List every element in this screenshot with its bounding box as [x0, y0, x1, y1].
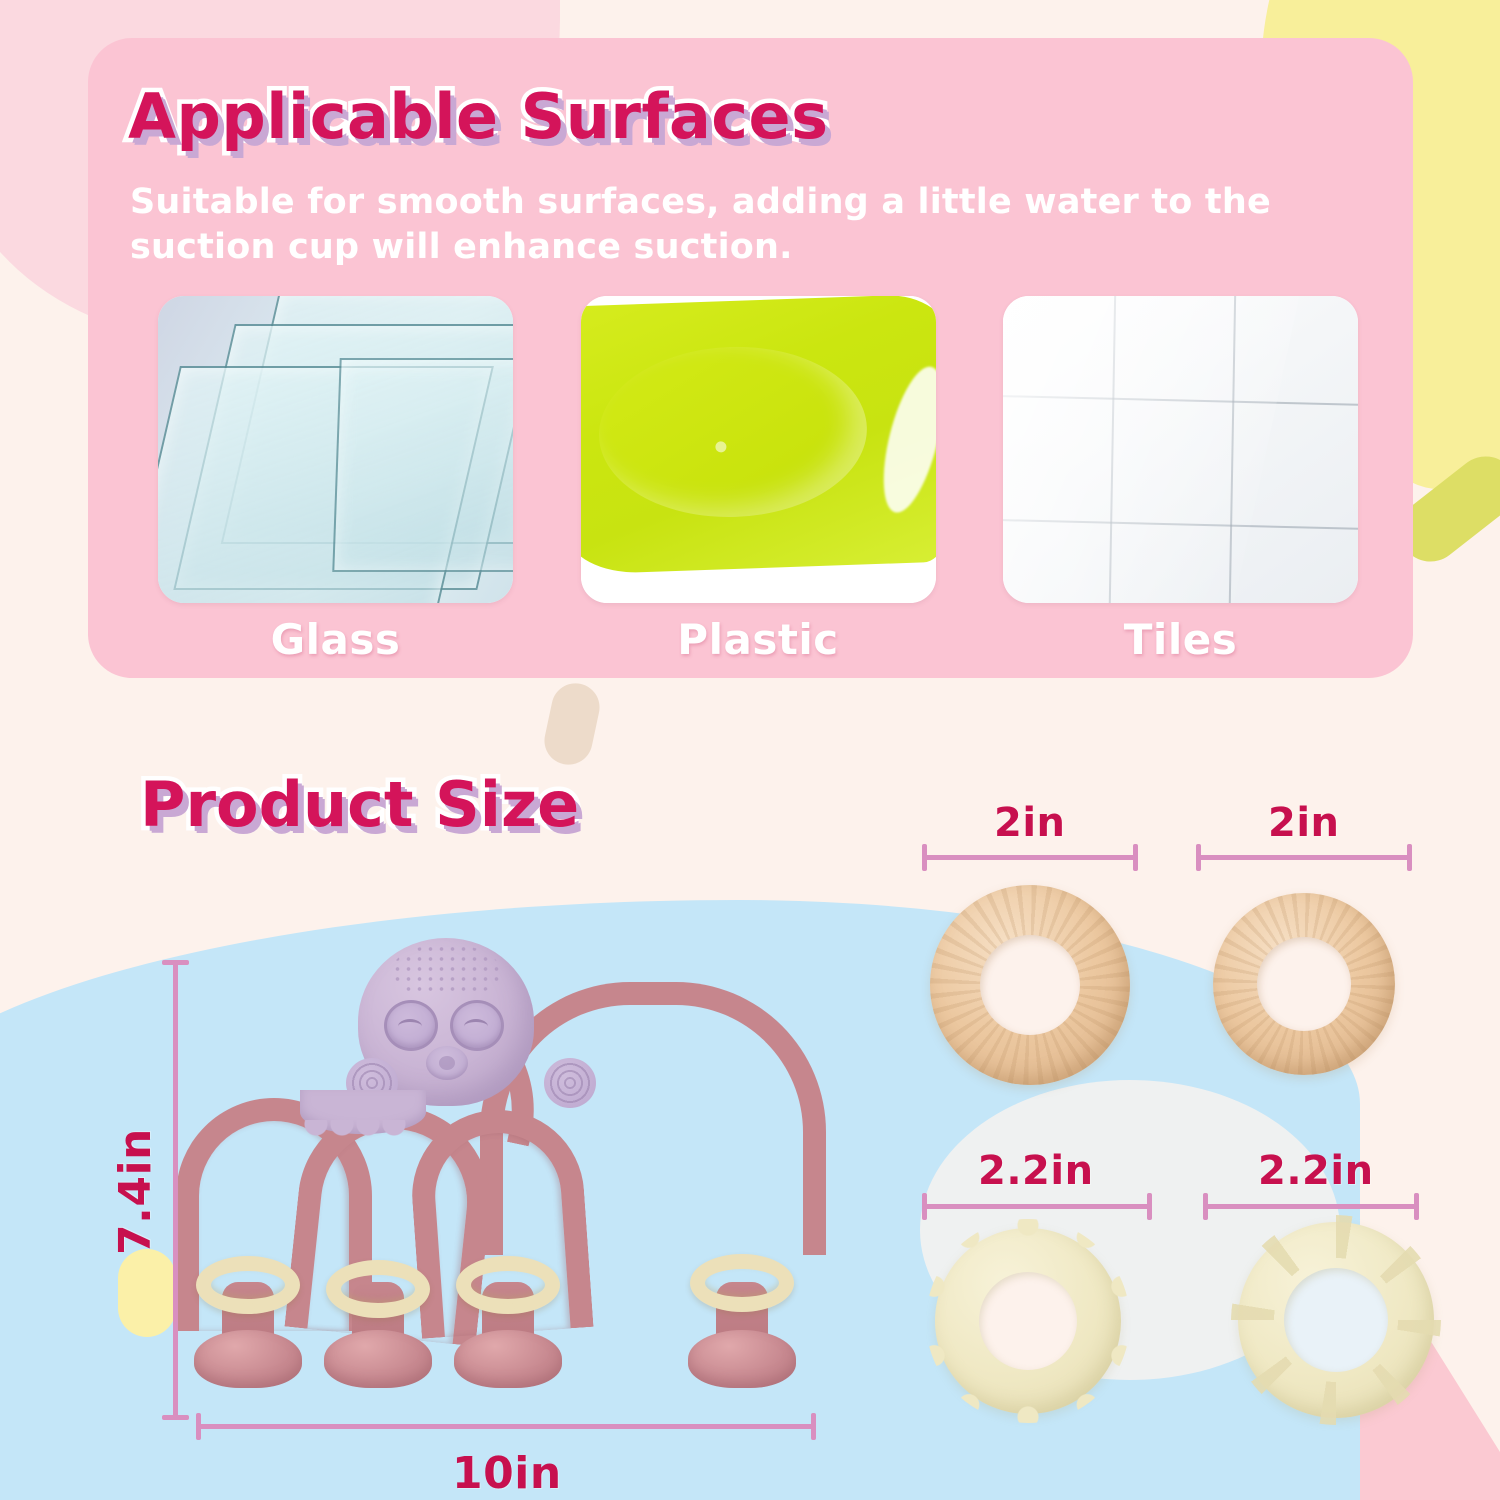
octopus-spiral-right: [544, 1058, 596, 1108]
suction-cup: [454, 1330, 562, 1388]
height-dimension-line: [173, 960, 178, 1420]
ring-dimension-label-silicone-left: 2.2in: [978, 1148, 1094, 1194]
octopus-skirt: [300, 1090, 426, 1134]
octopus-head: [358, 938, 534, 1106]
ring-dimension-line-wood-right: [1196, 855, 1412, 860]
silicone-ring-hole: [1284, 1268, 1388, 1372]
plastic-tray-icon: [581, 296, 936, 575]
surface-card-label-tiles: Tiles: [1003, 615, 1358, 664]
octopus-eyelash: [398, 1019, 422, 1034]
ring-dimension-line-wood-left: [922, 855, 1138, 860]
suction-cup: [194, 1330, 302, 1388]
plastic-thumbnail: [581, 296, 936, 603]
product-infographic: Applicable Surfaces Suitable for smooth …: [0, 0, 1500, 1500]
suction-cup: [688, 1330, 796, 1388]
glass-pane-icon: [332, 358, 513, 572]
silicone-teether-ring-bumpy-image: [935, 1228, 1121, 1414]
surface-card-tiles: Tiles: [1003, 296, 1358, 664]
wooden-ring-hole: [1257, 937, 1351, 1031]
toy-ring: [456, 1256, 560, 1314]
silicone-teether-ring-ribbed-image: [1238, 1222, 1434, 1418]
octopus-suction-toy-image: [150, 930, 870, 1450]
silicone-ring-hole: [979, 1272, 1077, 1370]
plastic-tray-basin: [596, 342, 870, 521]
octopus-eyelash: [464, 1019, 488, 1034]
applicable-surfaces-description: Suitable for smooth surfaces, adding a l…: [130, 180, 1310, 270]
octopus-nose: [426, 1046, 468, 1080]
glass-thumbnail: [158, 296, 513, 603]
octopus-head-texture: [392, 944, 500, 996]
octopus-eye-right: [450, 1000, 504, 1051]
ring-dimension-label-wood-right: 2in: [1268, 800, 1340, 846]
toy-ring: [690, 1254, 794, 1312]
tiles-thumbnail: [1003, 296, 1358, 603]
plastic-gloss-highlight: [871, 361, 935, 518]
surface-cards-row: Glass Plastic: [158, 296, 1358, 664]
width-dimension-label: 10in: [452, 1448, 562, 1499]
surface-card-label-glass: Glass: [158, 615, 513, 664]
toy-ring: [326, 1260, 430, 1318]
octopus-eye-left: [384, 1000, 438, 1051]
ring-dimension-label-silicone-right: 2.2in: [1258, 1148, 1374, 1194]
width-dimension-line: [196, 1424, 816, 1429]
toy-ring: [196, 1256, 300, 1314]
plastic-center-dot: [715, 441, 726, 452]
wooden-ring-image: [1213, 893, 1395, 1075]
product-size-title: Product Size: [140, 768, 579, 841]
wooden-ring-hole: [980, 935, 1080, 1035]
applicable-surfaces-title: Applicable Surfaces: [128, 80, 829, 153]
surface-card-glass: Glass: [158, 296, 513, 664]
surface-card-plastic: Plastic: [581, 296, 936, 664]
height-dimension-label: 7.4in: [110, 1128, 161, 1255]
ring-dimension-line-silicone-left: [922, 1204, 1152, 1209]
applicable-surfaces-panel: Applicable Surfaces Suitable for smooth …: [88, 38, 1413, 678]
ring-dimension-line-silicone-right: [1203, 1204, 1419, 1209]
ring-dimension-label-wood-left: 2in: [994, 800, 1066, 846]
suction-cup: [324, 1330, 432, 1388]
surface-card-label-plastic: Plastic: [581, 615, 936, 664]
wooden-ring-image: [930, 885, 1130, 1085]
